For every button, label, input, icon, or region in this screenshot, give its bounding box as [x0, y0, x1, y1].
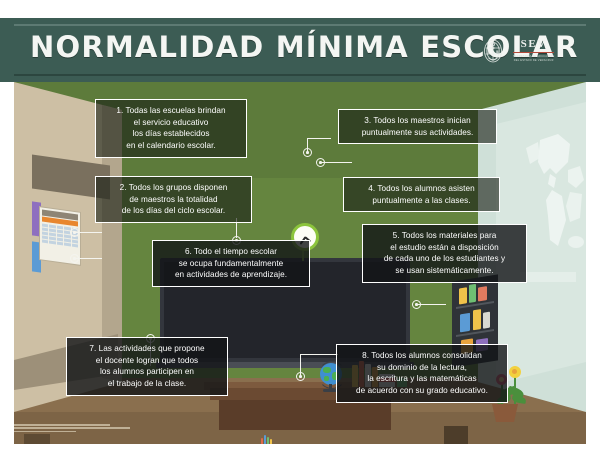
callout-4-line-2: puntualmente a las clases. [351, 195, 492, 207]
connector-node-4 [316, 158, 325, 167]
callout-7-line-4: el trabajo de la clase. [74, 378, 220, 390]
connector-node-2 [70, 254, 79, 263]
connector-line-5 [418, 304, 446, 305]
callout-7-line-2: el docente logran que todos [74, 355, 220, 367]
callout-5-line-3: de cada uno de los estudiantes y [370, 253, 519, 265]
connector-node-1 [70, 228, 79, 237]
callout-1-line-3: los días establecidos [103, 128, 239, 140]
logo-rule [513, 52, 554, 53]
plant-stem-right [514, 374, 516, 406]
callout-3[interactable]: 3. Todos los maestros inician puntualmen… [338, 109, 497, 144]
callout-2-line-3: de los días del ciclo escolar. [103, 205, 244, 217]
callout-4[interactable]: 4. Todos los alumnos asisten puntualment… [343, 177, 500, 212]
connector-line-3b [307, 138, 331, 139]
callout-1-line-4: en el calendario escolar. [103, 140, 239, 152]
callout-6-line-3: en actividades de aprendizaje. [160, 269, 302, 281]
logo-acronym: SEV [513, 39, 554, 50]
logo-subtitle-line2: DEL ESTADO DE VERACRUZ [513, 59, 554, 63]
chair-left [24, 434, 50, 444]
chair-right [444, 426, 468, 444]
callout-7-line-1: 7. Las actividades que propone [74, 343, 220, 355]
callout-3-line-2: puntualmente sus actividades. [346, 127, 489, 139]
callout-4-line-1: 4. Todos los alumnos asisten [351, 183, 492, 195]
callout-1[interactable]: 1. Todas las escuelas brindan el servici… [95, 99, 247, 158]
callout-3-line-1: 3. Todos los maestros inician [346, 115, 489, 127]
callout-2-line-2: de maestros la totalidad [103, 194, 244, 206]
callout-5[interactable]: 5. Todos los materiales para el estudio … [362, 224, 527, 283]
callout-2-line-1: 2. Todos los grupos disponen [103, 182, 244, 194]
callout-8[interactable]: 8. Todos los alumnos consolidan su domin… [336, 344, 508, 403]
callout-6-line-2: se ocupa fundamentalmente [160, 258, 302, 270]
callout-8-line-3: la escritura y las matemáticas [344, 373, 500, 385]
pencil-green [267, 437, 269, 444]
bottom-margin [0, 444, 600, 463]
infographic-poster: NORMALIDAD MÍNIMA ESCOLAR SEV SECRETARÍA… [0, 0, 600, 463]
sev-logo: SEV SECRETARÍA DE EDUCACIÓN DEL ESTADO D… [480, 36, 554, 66]
callout-5-line-1: 5. Todos los materiales para [370, 230, 519, 242]
callout-7[interactable]: 7. Las actividades que propone el docent… [66, 337, 228, 396]
pencil-blue [264, 435, 266, 444]
callout-1-line-2: el servicio educativo [103, 117, 239, 129]
flower-yellow-center [512, 369, 517, 374]
callout-7-line-3: los alumnos participen en [74, 366, 220, 378]
connector-line-1 [76, 232, 102, 233]
connector-node-3 [303, 148, 312, 157]
callout-1-line-1: 1. Todas las escuelas brindan [103, 105, 239, 117]
connector-line-8b [300, 354, 338, 355]
veracruz-state-crest-icon [480, 36, 506, 66]
flower-pot [492, 404, 518, 422]
callout-8-line-1: 8. Todos los alumnos consolidan [344, 350, 500, 362]
callout-6[interactable]: 6. Todo el tiempo escolar se ocupa funda… [152, 240, 310, 287]
callout-8-line-2: su dominio de la lectura, [344, 362, 500, 374]
callout-5-line-2: el estudio están a disposición [370, 242, 519, 254]
teacher-desk-body [219, 400, 391, 430]
callout-8-line-4: de acuerdo con su grado educativo. [344, 385, 500, 397]
connector-line-2 [76, 258, 102, 259]
footer-source-note [14, 424, 132, 434]
connector-line-4 [322, 162, 352, 163]
callout-6-line-1: 6. Todo el tiempo escolar [160, 246, 302, 258]
callout-2[interactable]: 2. Todos los grupos disponen de maestros… [95, 176, 252, 223]
connector-node-5 [412, 300, 421, 309]
connector-node-8 [296, 372, 305, 381]
callout-5-line-4: se usan sistemáticamente. [370, 265, 519, 277]
